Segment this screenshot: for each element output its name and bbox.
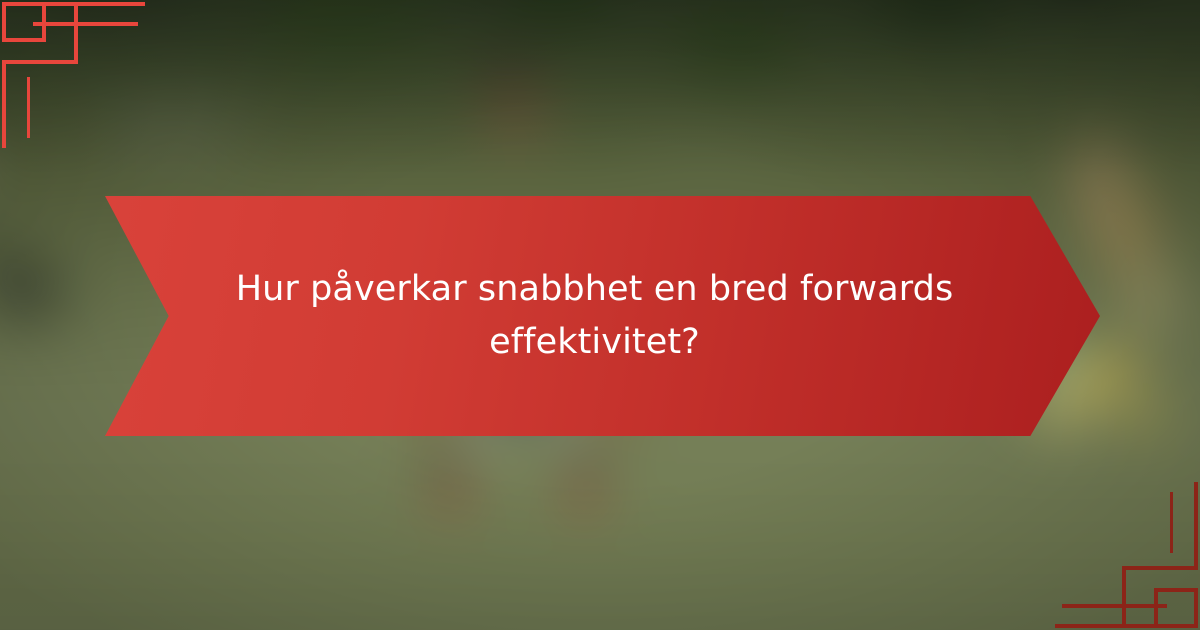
- share-card-stage: Hur påverkar snabbhet en bred forwards e…: [0, 0, 1200, 630]
- page-title: Hur påverkar snabbhet en bred forwards e…: [225, 263, 965, 369]
- ribbon-banner: Hur påverkar snabbhet en bred forwards e…: [105, 196, 1100, 436]
